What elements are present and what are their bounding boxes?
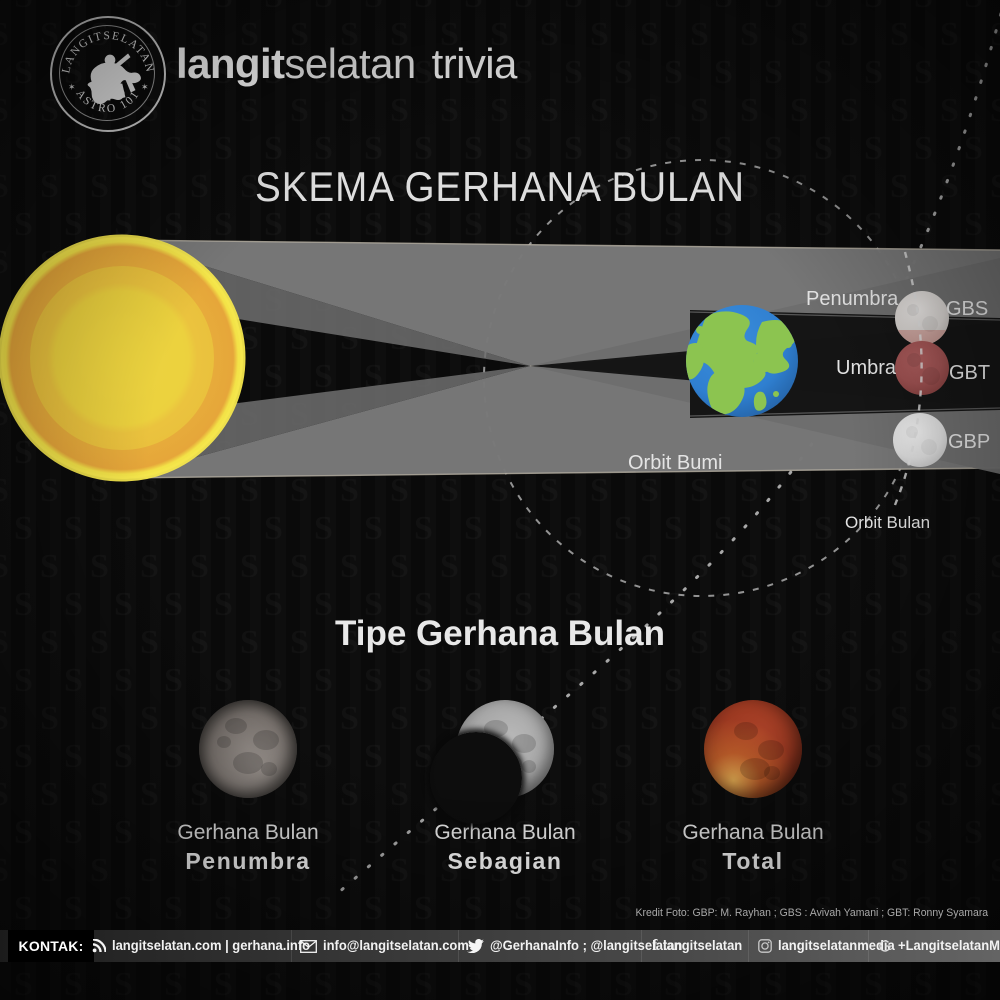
label-orbit-bumi: Orbit Bumi — [628, 452, 722, 474]
label-umbra: Umbra — [836, 357, 896, 379]
wordmark-light: selatan — [284, 40, 415, 87]
facebook-icon: f — [652, 938, 657, 954]
moon-gbs-body — [895, 291, 949, 345]
label-orbit-bulan: Orbit Bulan — [845, 512, 930, 534]
moon-penumbral-photo — [199, 700, 297, 798]
wordmark-suffix: trivia — [432, 40, 517, 87]
logo-seal-artwork: LANGITSELATAN ASTRO 101 ✶ ✶ — [52, 18, 164, 130]
instagram-icon — [758, 939, 772, 953]
rss-icon — [92, 939, 106, 953]
caption-bottom-total: Total — [628, 846, 878, 876]
envelope-icon — [300, 940, 317, 953]
footer-link-rss[interactable]: langitselatan.com | gerhana.info — [92, 938, 318, 954]
moon-partial-photo — [456, 700, 554, 798]
eclipse-type-card-partial: Gerhana Bulan Sebagian — [380, 700, 630, 876]
logo-star-left: ✶ — [68, 82, 76, 92]
label-gbs: GBS — [946, 298, 988, 320]
wordmark-bold: langit — [176, 40, 284, 87]
umbra-bite-partial — [430, 732, 522, 824]
googleplus-icon — [878, 939, 892, 953]
label-gbp: GBP — [948, 431, 990, 453]
moon-total-photo — [704, 700, 802, 798]
caption-top-partial: Gerhana Bulan — [380, 820, 630, 846]
infographic-canvas: SSSSSSSSSSSSSSSSSSSSSSSSSSSSSSSSSSSSSSSS… — [0, 0, 1000, 1000]
eclipse-type-card-penumbral: Gerhana Bulan Penumbra — [123, 700, 373, 876]
twitter-icon — [467, 939, 484, 953]
section-title-types: Tipe Gerhana Bulan — [0, 613, 1000, 655]
sun-body — [1, 237, 243, 479]
label-penumbra: Penumbra — [806, 288, 898, 310]
label-gbt: GBT — [949, 362, 990, 384]
wordmark: langitselatantrivia — [176, 40, 517, 88]
logo-seal[interactable]: LANGITSELATAN ASTRO 101 ✶ ✶ — [50, 16, 166, 132]
footer-text-rss: langitselatan.com | gerhana.info — [112, 938, 310, 954]
footer-divider — [748, 930, 749, 962]
photo-credit: Kredit Foto: GBP: M. Rayhan ; GBS : Aviv… — [635, 906, 988, 920]
caption-bottom-partial: Sebagian — [380, 846, 630, 876]
footer-link-googleplus[interactable]: +LangitselatanMedia — [878, 938, 1000, 954]
caption-top-penumbral: Gerhana Bulan — [123, 820, 373, 846]
caption-top-total: Gerhana Bulan — [628, 820, 878, 846]
footer-kontak-label: KONTAK: — [8, 930, 94, 962]
header: LANGITSELATAN ASTRO 101 ✶ ✶ — [0, 0, 1000, 140]
footer-text-facebook: langitselatan — [663, 938, 742, 954]
caption-bottom-penumbral: Penumbra — [123, 846, 373, 876]
footer-link-facebook[interactable]: f langitselatan — [652, 938, 746, 954]
footer-text-googleplus: +LangitselatanMedia — [898, 938, 1000, 954]
page-title-scheme: SKEMA GERHANA BULAN — [40, 163, 960, 211]
footer-link-mail[interactable]: info@langitselatan.com — [300, 938, 475, 954]
eclipse-type-card-total: Gerhana Bulan Total — [628, 700, 878, 876]
footer-text-mail: info@langitselatan.com — [323, 938, 469, 954]
moon-gbp-body — [893, 413, 947, 467]
logo-star-right: ✶ — [141, 82, 149, 92]
